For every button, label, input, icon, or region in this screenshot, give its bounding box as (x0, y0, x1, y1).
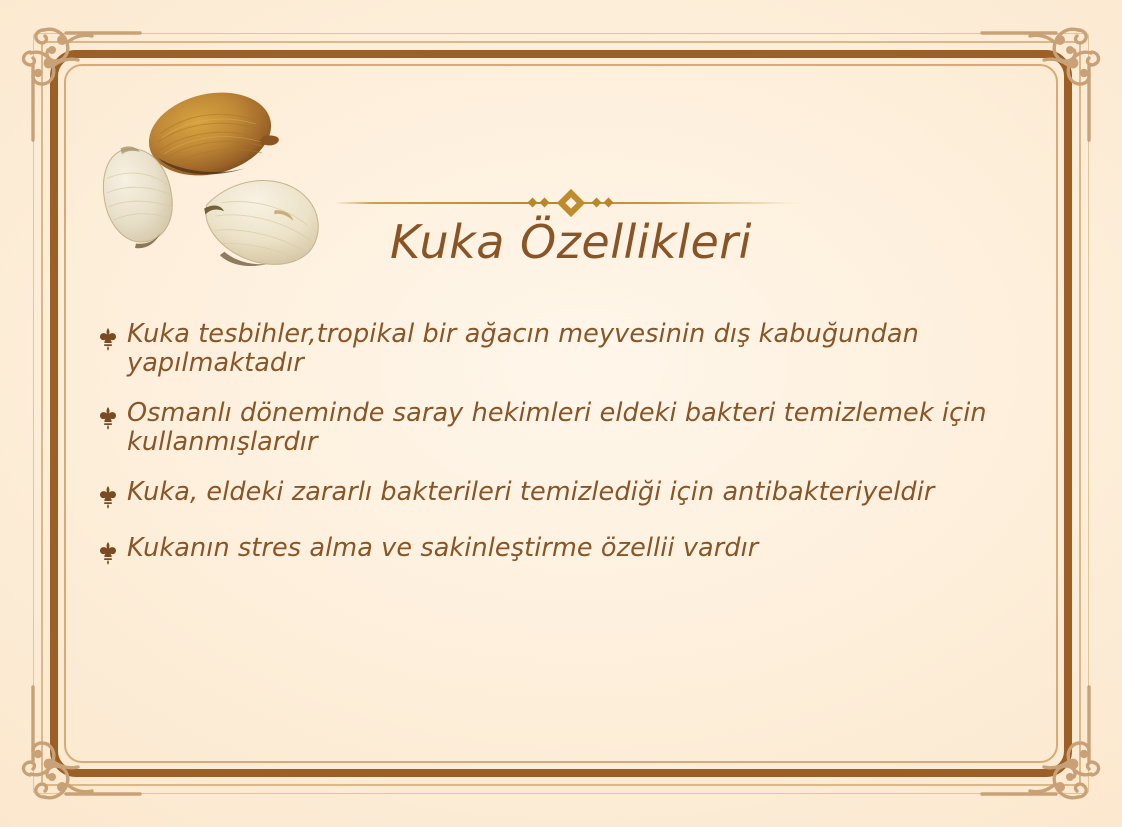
page-title: Kuka Özellikleri (336, 216, 806, 266)
list-item: Kuka tesbihler,tropikal bir ağacın meyve… (97, 320, 1047, 377)
ornamental-divider (336, 190, 806, 216)
fleur-de-lis-icon (97, 534, 127, 568)
divider-center-diamond-icon (557, 189, 585, 217)
list-item-label: Kuka, eldeki zararlı bakterileri temizle… (127, 478, 1027, 507)
divider-dot-right-inner-icon (592, 198, 602, 208)
list-item-label: Kuka tesbihler,tropikal bir ağacın meyve… (127, 320, 1007, 377)
corner-flourish-bottom-right-icon (972, 677, 1122, 827)
slide-canvas: Kuka Özellikleri Kuka tesbihler,tropikal… (0, 0, 1122, 827)
list-item: Osmanlı döneminde saray hekimleri eldeki… (97, 399, 1047, 456)
list-item-label: Kukanın stres alma ve sakinleştirme özel… (127, 534, 1027, 563)
list-item-label: Osmanlı döneminde saray hekimleri eldeki… (127, 399, 1007, 456)
kuka-seeds-photo (78, 76, 338, 276)
fleur-de-lis-icon (97, 478, 127, 512)
feature-list: Kuka tesbihler,tropikal bir ağacın meyve… (97, 320, 1047, 590)
divider-dot-left-inner-icon (540, 198, 550, 208)
fleur-de-lis-icon (97, 320, 127, 354)
corner-flourish-top-right-icon (972, 0, 1122, 150)
fleur-de-lis-icon (97, 399, 127, 433)
divider-dot-right-outer-icon (604, 198, 614, 208)
list-item: Kukanın stres alma ve sakinleştirme özel… (97, 534, 1047, 568)
heading-block: Kuka Özellikleri (336, 190, 806, 266)
corner-flourish-bottom-left-icon (0, 677, 150, 827)
divider-dot-left-outer-icon (528, 198, 538, 208)
list-item: Kuka, eldeki zararlı bakterileri temizle… (97, 478, 1047, 512)
